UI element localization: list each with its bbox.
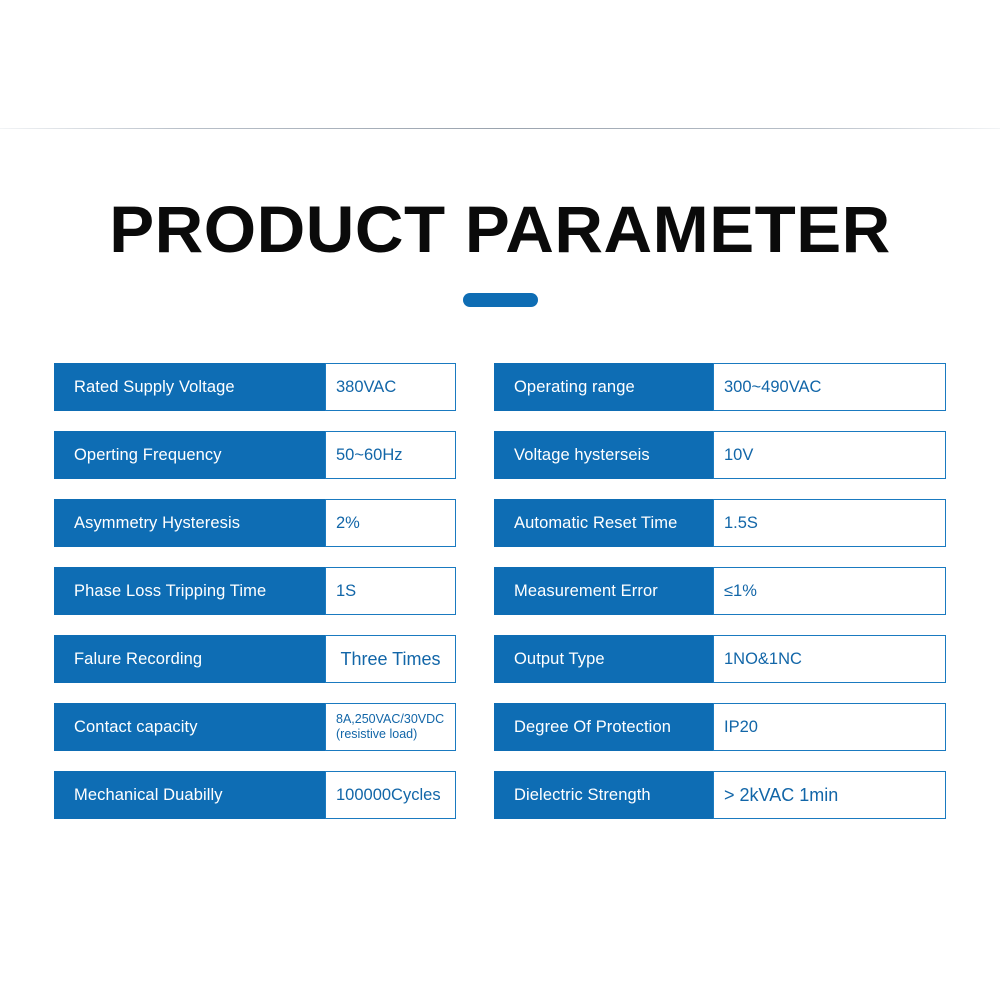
spec-row: Asymmetry Hysteresis2%	[54, 499, 456, 547]
title-underline-accent	[463, 293, 538, 307]
page-title: PRODUCT PARAMETER	[0, 196, 1000, 262]
spec-label: Operting Frequency	[54, 431, 325, 479]
spec-value: IP20	[713, 703, 946, 751]
spec-label: Operating range	[494, 363, 713, 411]
spec-label: Phase Loss Tripping Time	[54, 567, 325, 615]
spec-label: Asymmetry Hysteresis	[54, 499, 325, 547]
spec-row: Automatic Reset Time1.5S	[494, 499, 946, 547]
spec-value: 1.5S	[713, 499, 946, 547]
spec-row: Output Type1NO&1NC	[494, 635, 946, 683]
spec-column-right: Operating range300~490VACVoltage hysters…	[494, 363, 946, 819]
spec-row: Rated Supply Voltage380VAC	[54, 363, 456, 411]
spec-value: 10V	[713, 431, 946, 479]
spec-label: Falure Recording	[54, 635, 325, 683]
spec-value: ≤1%	[713, 567, 946, 615]
spec-row: Falure RecordingThree Times	[54, 635, 456, 683]
spec-label: Contact capacity	[54, 703, 325, 751]
spec-row: Voltage hysterseis10V	[494, 431, 946, 479]
spec-label: Measurement Error	[494, 567, 713, 615]
spec-value: 1NO&1NC	[713, 635, 946, 683]
spec-row: Contact capacity8A,250VAC/30VDC (resisti…	[54, 703, 456, 751]
spec-row: Mechanical Duabilly100000Cycles	[54, 771, 456, 819]
spec-label: Dielectric Strength	[494, 771, 713, 819]
spec-label: Degree Of Protection	[494, 703, 713, 751]
spec-row: Degree Of ProtectionIP20	[494, 703, 946, 751]
spec-value: 1S	[325, 567, 456, 615]
spec-value: 2%	[325, 499, 456, 547]
spec-row: Measurement Error≤1%	[494, 567, 946, 615]
spec-value: 8A,250VAC/30VDC (resistive load)	[325, 703, 456, 751]
product-parameter-page: PRODUCT PARAMETER Rated Supply Voltage38…	[0, 0, 1000, 1000]
spec-value: > 2kVAC 1min	[713, 771, 946, 819]
spec-label: Rated Supply Voltage	[54, 363, 325, 411]
spec-label: Output Type	[494, 635, 713, 683]
spec-row: Dielectric Strength> 2kVAC 1min	[494, 771, 946, 819]
spec-row: Operting Frequency50~60Hz	[54, 431, 456, 479]
spec-value: 300~490VAC	[713, 363, 946, 411]
spec-label: Automatic Reset Time	[494, 499, 713, 547]
top-divider	[0, 128, 1000, 129]
spec-label: Voltage hysterseis	[494, 431, 713, 479]
spec-value: Three Times	[325, 635, 456, 683]
spec-value: 380VAC	[325, 363, 456, 411]
page-header: PRODUCT PARAMETER	[0, 196, 1000, 307]
spec-label: Mechanical Duabilly	[54, 771, 325, 819]
spec-value: 50~60Hz	[325, 431, 456, 479]
spec-column-left: Rated Supply Voltage380VACOperting Frequ…	[54, 363, 456, 819]
specification-table: Rated Supply Voltage380VACOperting Frequ…	[0, 363, 1000, 833]
spec-row: Operating range300~490VAC	[494, 363, 946, 411]
spec-value: 100000Cycles	[325, 771, 456, 819]
spec-row: Phase Loss Tripping Time1S	[54, 567, 456, 615]
